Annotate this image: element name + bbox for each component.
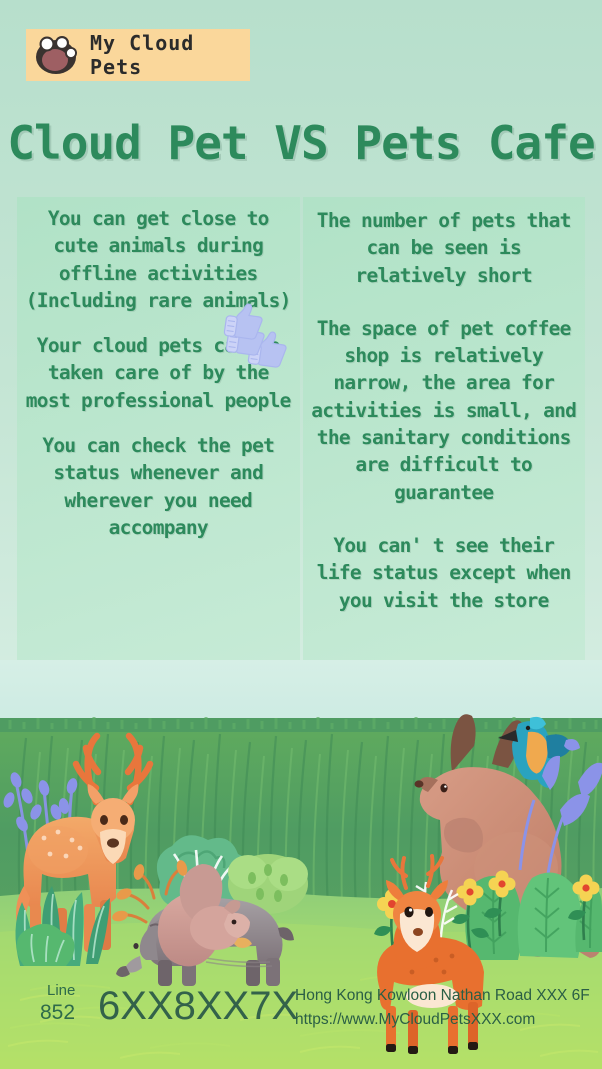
paw-print-icon (34, 34, 78, 76)
list-item: You can check the pet status whenever an… (23, 432, 294, 541)
list-item: You can get close to cute animals during… (23, 205, 294, 314)
line-number: 852 (40, 1001, 75, 1025)
thumbs-up-icon (222, 301, 268, 343)
brand-name: My Cloud Pets (90, 31, 250, 79)
infographic-page: My Cloud Pets Cloud Pet VS Pets Cafe You… (0, 0, 602, 1069)
brand-logo: My Cloud Pets (26, 29, 250, 81)
line-label: Line (47, 982, 75, 999)
comparison-panels: You can get close to cute animals during… (17, 197, 585, 700)
website-url[interactable]: https://www.MyCloudPetsXXX.com (295, 1011, 535, 1029)
list-item: You can' t see their life status except … (309, 532, 580, 614)
list-item: The space of pet coffee shop is relative… (309, 315, 580, 506)
address-text: Hong Kong Kowloon Nathan Road XXX 6F (295, 987, 590, 1005)
phone-number: 6XX8XX7X (98, 984, 298, 1029)
footer-contact: Line 852 6XX8XX7X Hong Kong Kowloon Nath… (0, 975, 602, 1069)
cloud-pet-column: You can get close to cute animals during… (17, 197, 300, 700)
pets-cafe-column: The number of pets that can be seen is r… (303, 197, 586, 700)
page-title: Cloud Pet VS Pets Cafe (0, 116, 602, 170)
list-item: The number of pets that can be seen is r… (309, 207, 580, 289)
